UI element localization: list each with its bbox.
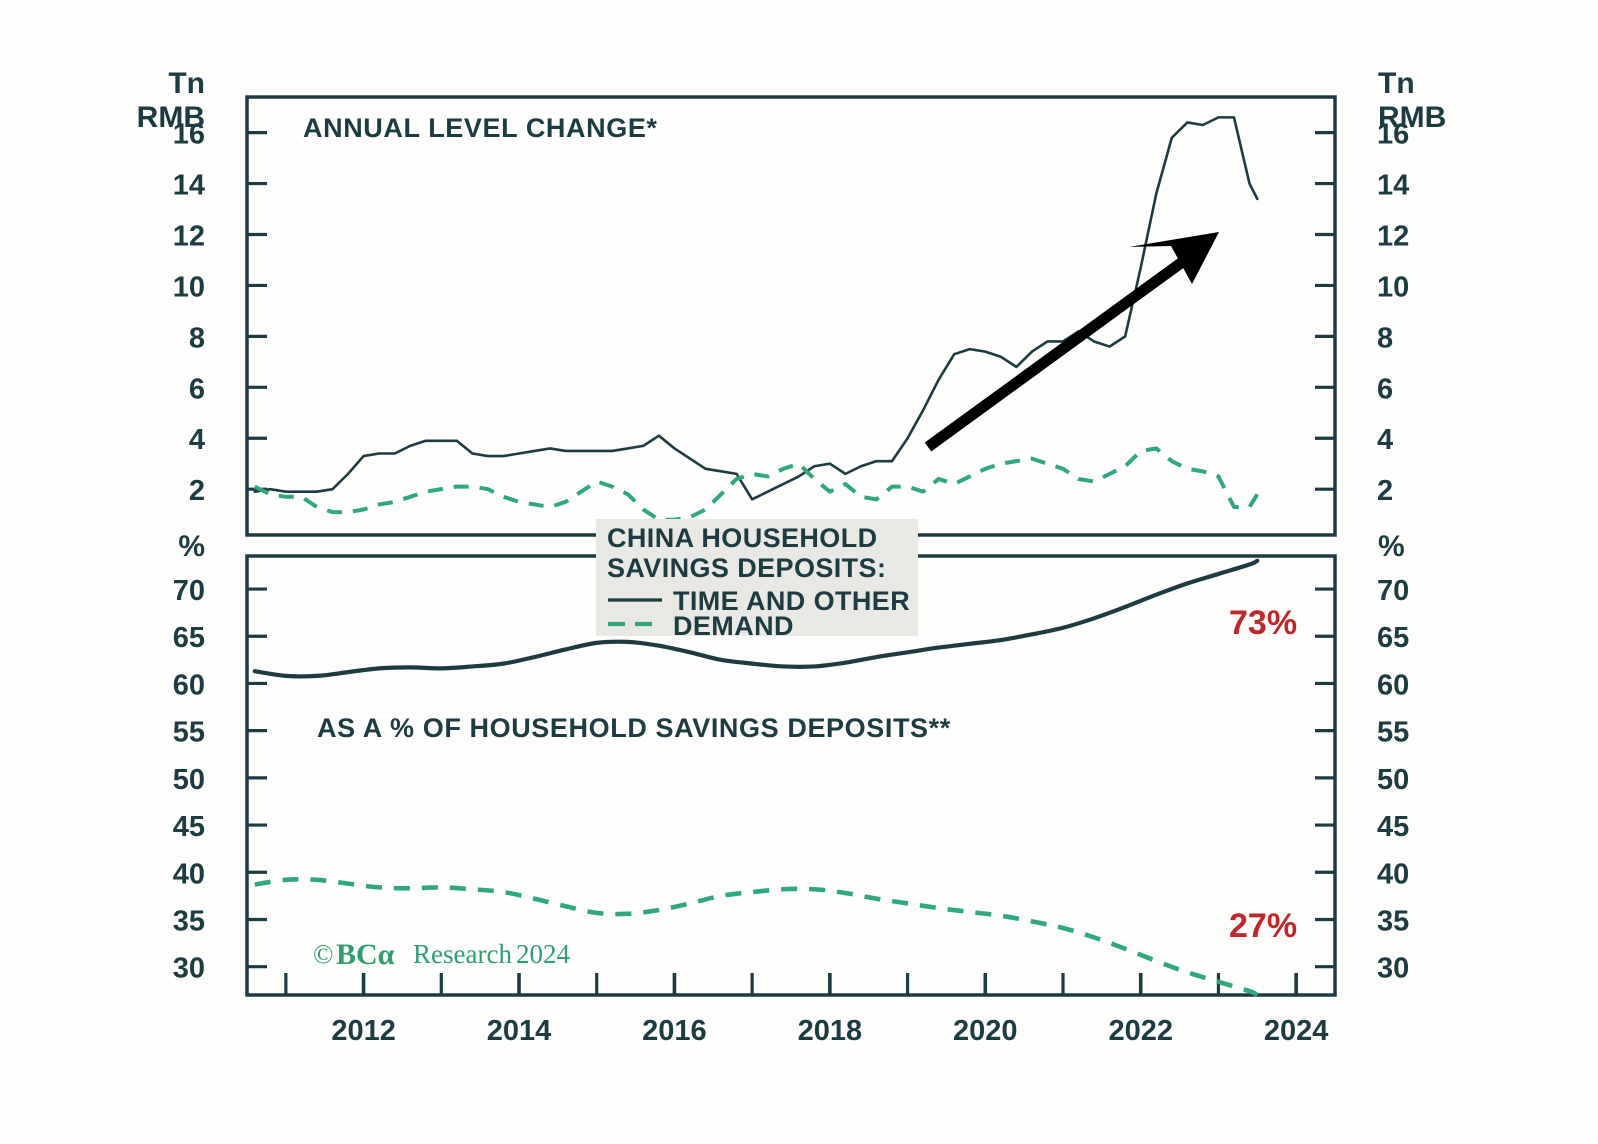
- y-tick-label: 55: [1377, 717, 1409, 749]
- x-tick-label: 2024: [1264, 1015, 1329, 1047]
- x-tick-label: 2014: [487, 1015, 552, 1047]
- upper-right-unit-line2: RMB: [1378, 101, 1446, 134]
- upper-right-tick-labels: 246810121416: [1377, 119, 1409, 508]
- y-tick-label: 60: [1377, 669, 1409, 701]
- upper-series-time-and-other: [255, 117, 1258, 499]
- y-tick-label: 55: [173, 717, 205, 749]
- upper-left-ticks: [247, 133, 267, 490]
- y-tick-label: 45: [173, 811, 205, 843]
- annotation-demand-pct: 27%: [1229, 907, 1297, 945]
- lower-right-ticks: [1315, 589, 1335, 967]
- watermark-year: 2024: [516, 939, 571, 969]
- y-tick-label: 10: [1377, 271, 1409, 303]
- y-tick-label: 70: [1377, 575, 1409, 607]
- x-tick-label: 2018: [798, 1015, 863, 1047]
- lower-left-ticks: [247, 589, 267, 967]
- y-tick-label: 14: [173, 170, 205, 202]
- lower-left-unit: %: [178, 530, 205, 563]
- upper-left-unit-line2: RMB: [137, 101, 205, 134]
- y-tick-label: 12: [1377, 221, 1409, 253]
- y-tick-label: 4: [1377, 424, 1393, 456]
- lower-right-tick-labels: 303540455055606570: [1377, 575, 1409, 985]
- legend-heading-line2: SAVINGS DEPOSITS:: [607, 553, 886, 583]
- watermark: © BCα Research 2024: [313, 938, 571, 971]
- y-tick-label: 6: [1377, 373, 1393, 405]
- y-tick-label: 65: [173, 622, 205, 654]
- y-tick-label: 14: [1377, 170, 1409, 202]
- chart-figure: 246810121416 246810121416 Tn Tn ANNUAL L…: [0, 0, 1598, 1144]
- upper-series-demand: [255, 448, 1258, 519]
- y-tick-label: 4: [189, 424, 205, 456]
- y-tick-label: 2: [189, 475, 205, 507]
- watermark-copyright-symbol: ©: [313, 939, 334, 969]
- x-tick-label: 2020: [953, 1015, 1018, 1047]
- legend-label-demand: DEMAND: [673, 611, 794, 641]
- x-tick-label: 2012: [331, 1015, 396, 1047]
- growth-arrow-annotation: [928, 232, 1219, 447]
- upper-right-ticks: [1315, 133, 1335, 490]
- lower-series-demand: [255, 879, 1258, 995]
- legend-heading-line1: CHINA HOUSEHOLD: [607, 523, 878, 553]
- lower-panel-title: AS A % OF HOUSEHOLD SAVINGS DEPOSITS**: [317, 713, 951, 743]
- y-tick-label: 30: [1377, 953, 1409, 985]
- upper-panel: 246810121416 246810121416: [173, 97, 1410, 535]
- x-axis-tick-labels: 2012201420162018202020222024: [331, 1015, 1328, 1047]
- y-tick-label: 40: [1377, 858, 1409, 890]
- legend: CHINA HOUSEHOLD SAVINGS DEPOSITS: TIME A…: [596, 519, 918, 641]
- chart-canvas: 246810121416 246810121416 Tn Tn ANNUAL L…: [0, 0, 1598, 1144]
- lower-left-tick-labels: 303540455055606570: [173, 575, 205, 985]
- upper-panel-frame: [247, 97, 1335, 535]
- watermark-word: Research: [413, 939, 512, 969]
- y-tick-label: 8: [1377, 322, 1393, 354]
- y-tick-label: 6: [189, 373, 205, 405]
- annotation-time-and-other-pct: 73%: [1229, 604, 1297, 642]
- upper-right-unit-line1: Tn: [1378, 67, 1415, 100]
- upper-left-tick-labels: 246810121416: [173, 119, 205, 508]
- y-tick-label: 40: [173, 858, 205, 890]
- y-tick-label: 65: [1377, 622, 1409, 654]
- x-axis-ticks: [286, 973, 1296, 995]
- y-tick-label: 45: [1377, 811, 1409, 843]
- upper-panel-title: ANNUAL LEVEL CHANGE*: [303, 113, 658, 143]
- upper-left-unit-line1: Tn: [168, 67, 205, 100]
- y-tick-label: 12: [173, 221, 205, 253]
- y-tick-label: 60: [173, 669, 205, 701]
- y-tick-label: 30: [173, 953, 205, 985]
- y-tick-label: 35: [1377, 905, 1409, 937]
- x-tick-label: 2022: [1108, 1015, 1173, 1047]
- y-tick-label: 50: [1377, 764, 1409, 796]
- y-tick-label: 8: [189, 322, 205, 354]
- lower-right-unit: %: [1378, 530, 1405, 563]
- x-tick-label: 2016: [642, 1015, 707, 1047]
- y-tick-label: 2: [1377, 475, 1393, 507]
- y-tick-label: 10: [173, 271, 205, 303]
- y-tick-label: 35: [173, 905, 205, 937]
- watermark-brand: BCα: [336, 938, 395, 971]
- y-tick-label: 70: [173, 575, 205, 607]
- y-tick-label: 50: [173, 764, 205, 796]
